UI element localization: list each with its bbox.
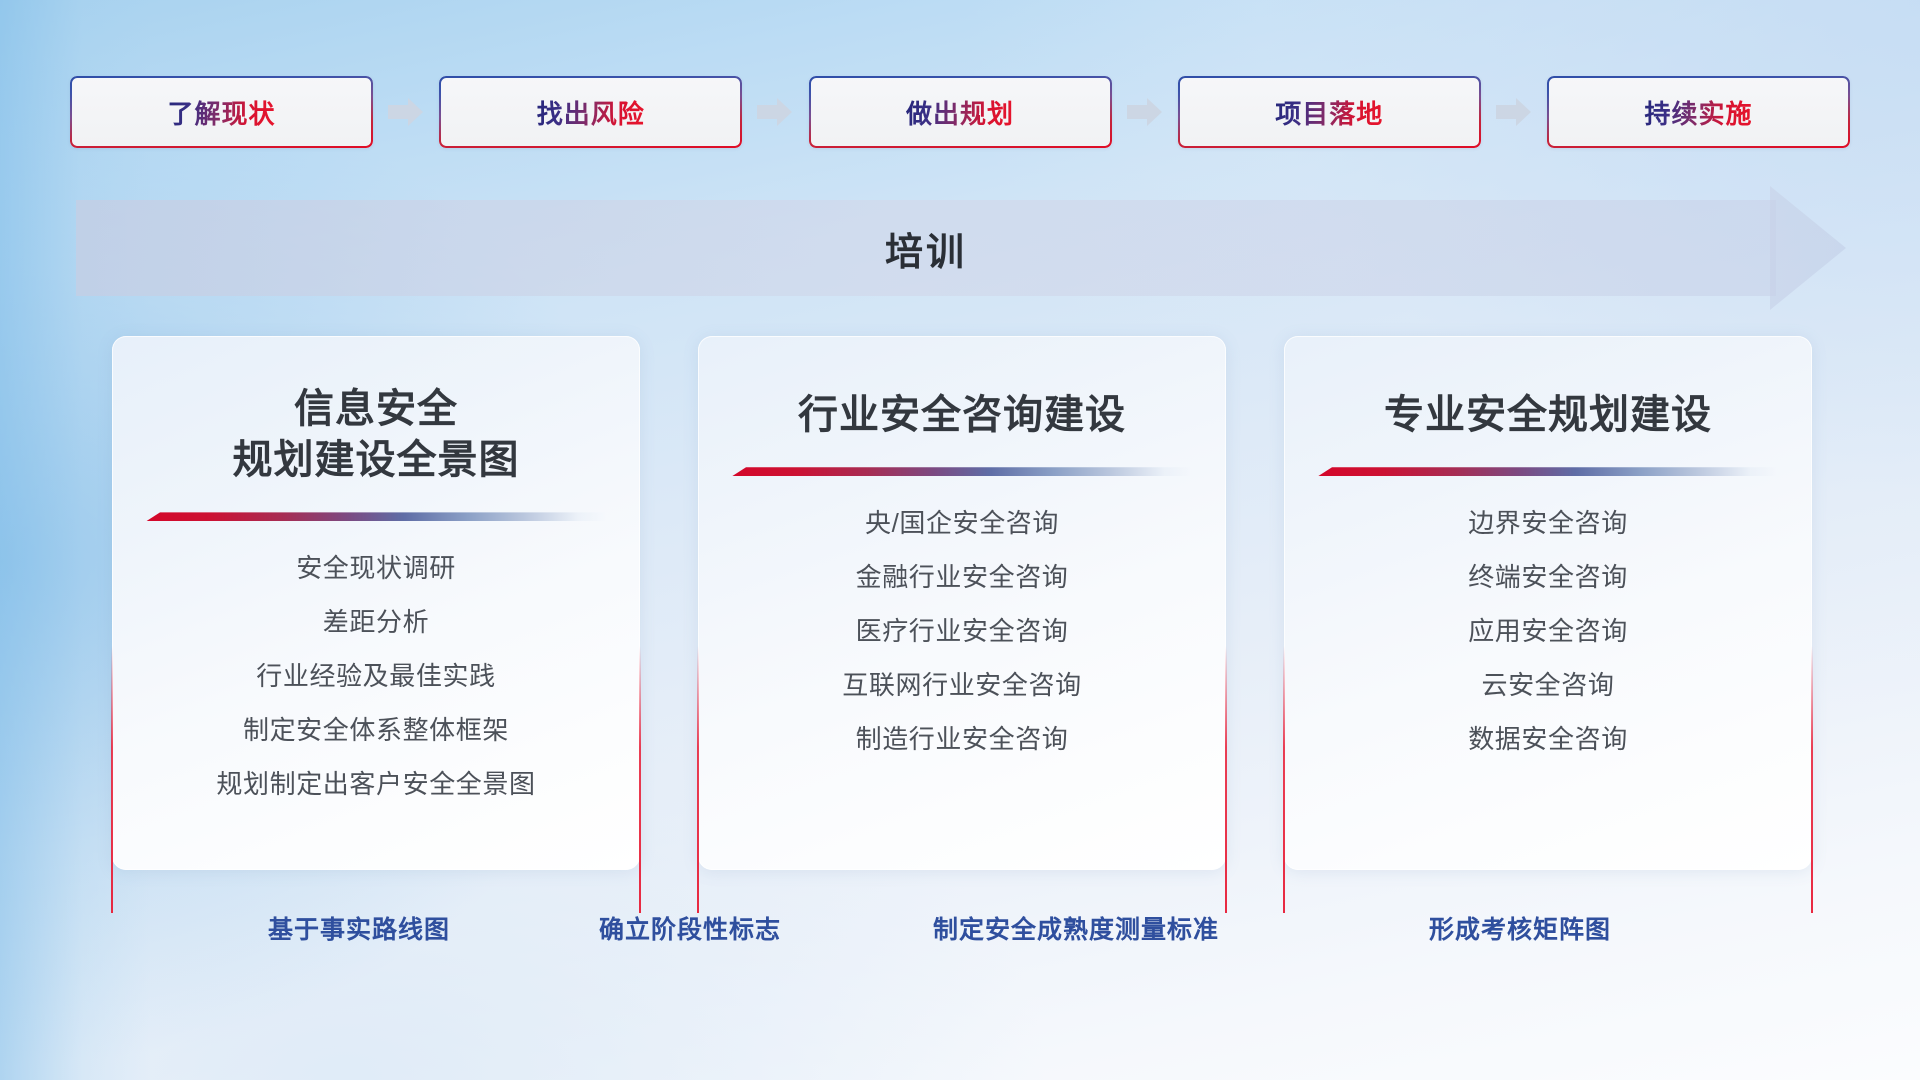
- card-2-title: 行业安全咨询建设: [798, 390, 1126, 441]
- card-2-list: 央/国企安全咨询 金融行业安全咨询 医疗行业安全咨询 互联网行业安全咨询 制造行…: [842, 510, 1081, 752]
- caption-2: 确立阶段性标志: [599, 910, 781, 946]
- step-box-5[interactable]: 持续实施: [1547, 76, 1850, 148]
- card-1-right-accent: [639, 646, 641, 913]
- step-box-2[interactable]: 找出风险: [439, 76, 742, 148]
- slide-canvas: 了解现状 找出风险 做出规划 项目落地: [0, 0, 1920, 1080]
- step-label-4: 项目落地: [1275, 94, 1383, 131]
- caption-3: 制定安全成熟度测量标准: [933, 910, 1219, 946]
- list-item: 应用安全咨询: [1468, 618, 1628, 644]
- training-banner: 培训: [76, 200, 1846, 296]
- training-banner-arrowhead-icon: [1770, 186, 1846, 310]
- card-3-right-accent: [1811, 646, 1813, 913]
- list-item: 云安全咨询: [1468, 672, 1628, 698]
- list-item: 制定安全体系整体框架: [216, 717, 535, 743]
- process-step-row: 了解现状 找出风险 做出规划 项目落地: [70, 76, 1850, 148]
- card-2[interactable]: 行业安全咨询建设 央/国企安全咨询 金融行业安全咨询 医疗行业安全咨询 互联网行…: [698, 336, 1226, 870]
- card-3-title: 专业安全规划建设: [1384, 390, 1712, 441]
- card-row: 信息安全 规划建设全景图 安全现状调研 差距分析 行业经验及最佳实践 制定安全体…: [112, 336, 1812, 870]
- card-3-left-accent: [1283, 646, 1285, 913]
- step-box-3[interactable]: 做出规划: [809, 76, 1112, 148]
- card-2-divider: [732, 467, 1192, 476]
- training-banner-label: 培训: [76, 200, 1776, 296]
- step-arrow-icon-3: [1127, 95, 1163, 129]
- step-label-3: 做出规划: [906, 94, 1014, 131]
- card-2-left-accent: [697, 646, 699, 913]
- list-item: 差距分析: [216, 609, 535, 635]
- card-1[interactable]: 信息安全 规划建设全景图 安全现状调研 差距分析 行业经验及最佳实践 制定安全体…: [112, 336, 640, 870]
- card-1-left-accent: [111, 646, 113, 913]
- step-arrow-icon-4: [1496, 95, 1532, 129]
- list-item: 制造行业安全咨询: [842, 726, 1081, 752]
- list-item: 行业经验及最佳实践: [216, 663, 535, 689]
- card-3-divider: [1318, 467, 1778, 476]
- card-3-list: 边界安全咨询 终端安全咨询 应用安全咨询 云安全咨询 数据安全咨询: [1468, 510, 1628, 752]
- list-item: 规划制定出客户安全全景图: [216, 771, 535, 797]
- list-item: 互联网行业安全咨询: [842, 672, 1081, 698]
- step-label-2: 找出风险: [537, 94, 645, 131]
- list-item: 数据安全咨询: [1468, 726, 1628, 752]
- step-label-1: 了解现状: [167, 94, 275, 131]
- step-box-1[interactable]: 了解现状: [70, 76, 373, 148]
- list-item: 终端安全咨询: [1468, 564, 1628, 590]
- card-1-list: 安全现状调研 差距分析 行业经验及最佳实践 制定安全体系整体框架 规划制定出客户…: [216, 555, 535, 797]
- card-3[interactable]: 专业安全规划建设 边界安全咨询 终端安全咨询 应用安全咨询 云安全咨询 数据安全…: [1284, 336, 1812, 870]
- caption-row: 基于事实路线图 确立阶段性标志 制定安全成熟度测量标准 形成考核矩阵图: [112, 910, 1812, 958]
- list-item: 医疗行业安全咨询: [842, 618, 1081, 644]
- list-item: 安全现状调研: [216, 555, 535, 581]
- card-2-right-accent: [1225, 646, 1227, 913]
- step-arrow-icon-1: [388, 95, 424, 129]
- step-arrow-icon-2: [757, 95, 793, 129]
- list-item: 央/国企安全咨询: [842, 510, 1081, 536]
- list-item: 边界安全咨询: [1468, 510, 1628, 536]
- card-1-title: 信息安全 规划建设全景图: [233, 384, 520, 486]
- step-box-4[interactable]: 项目落地: [1178, 76, 1481, 148]
- card-1-divider: [146, 512, 606, 521]
- list-item: 金融行业安全咨询: [842, 564, 1081, 590]
- caption-4: 形成考核矩阵图: [1429, 910, 1611, 946]
- caption-1: 基于事实路线图: [268, 910, 450, 946]
- step-label-5: 持续实施: [1644, 94, 1752, 131]
